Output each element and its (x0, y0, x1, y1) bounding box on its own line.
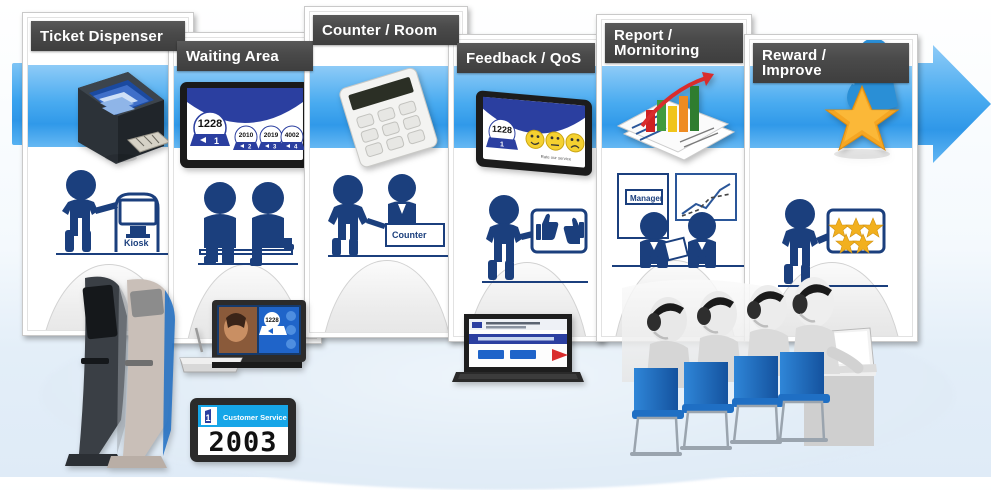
tv-ticket: 1228 (265, 318, 279, 324)
call-center-agents-group (622, 276, 877, 467)
panel-title-counter-room: Counter / Room (313, 15, 459, 45)
panel-inner: 1228 1 2010 2 2019 (173, 37, 317, 339)
counter-display-device: 1 Customer Service 2003 (188, 396, 298, 469)
pictogram-feedback-rating (480, 192, 590, 293)
diagram-canvas: Kiosk Ticket Dispenser 1228 (0, 0, 991, 477)
panel-title-text: Ticket Dispenser (40, 29, 163, 44)
queue-ticket-4: 4002 (285, 132, 300, 139)
counter-display-ticket: 2003 (208, 427, 277, 458)
panel-title-text: Waiting Area (186, 49, 279, 64)
panel-title-feedback-qos: Feedback / QoS (457, 43, 595, 73)
queue-ticket-2: 2010 (239, 132, 254, 139)
pictogram-customer-at-kiosk: Kiosk (54, 168, 172, 265)
counter-display-counter: 1 (205, 413, 210, 423)
panel-title-text: Counter / Room (322, 23, 437, 38)
panel-inner: Counter (309, 11, 463, 333)
counter-label: Counter (392, 230, 427, 240)
feedback-laptop-device (456, 310, 584, 400)
manager-sign-label: Manager (630, 194, 663, 203)
panel-title-line-1: Report / (614, 28, 672, 43)
panel-title-line-2: Mornitoring (614, 43, 700, 58)
panel-title-line-2: Improve (762, 63, 822, 78)
panel-counter-room[interactable]: Counter Counter / Room (304, 6, 468, 338)
panel-dome (319, 260, 455, 333)
panel-waiting-area[interactable]: 1228 1 2010 2 2019 (168, 32, 322, 344)
panel-title-report-monitoring: Report / Mornitoring (605, 23, 743, 63)
feedback-tablet-device: 1228 1 (474, 88, 596, 181)
pictogram-counter-service: Counter (324, 172, 456, 267)
panel-title-line-1: Reward / (762, 48, 826, 63)
lcd-tv-display-and-media-box: 1228 (176, 300, 306, 390)
free-standing-kiosks (55, 272, 185, 477)
panel-feedback-qos[interactable]: 1228 1 (448, 34, 604, 342)
panel-inner: 1228 1 (453, 39, 599, 337)
queue-ticket-3: 2019 (264, 132, 279, 139)
ticket-dispenser-device-icon (66, 66, 176, 177)
pictogram-seated-customers (188, 178, 304, 275)
queue-display-monitor: 1228 1 2010 2 2019 (180, 82, 310, 173)
feedback-counter: 1 (500, 141, 504, 148)
feedback-ticket: 1228 (492, 124, 512, 136)
kiosk-black (65, 277, 129, 466)
counter-keypad-device (334, 70, 446, 167)
pictogram-manager-review: Manager (610, 170, 746, 275)
panel-title-text: Feedback / QoS (466, 51, 581, 66)
queue-now-serving-counter: 1 (214, 136, 219, 146)
panel-title-ticket-dispenser: Ticket Dispenser (31, 21, 185, 51)
kiosk-label: Kiosk (124, 238, 150, 248)
panel-title-reward-improve: Reward / Improve (753, 43, 909, 83)
report-charts-graphic (614, 68, 740, 167)
counter-display-label: Customer Service (223, 413, 287, 422)
queue-now-serving-ticket: 1228 (198, 118, 222, 130)
panel-title-waiting-area: Waiting Area (177, 41, 313, 71)
